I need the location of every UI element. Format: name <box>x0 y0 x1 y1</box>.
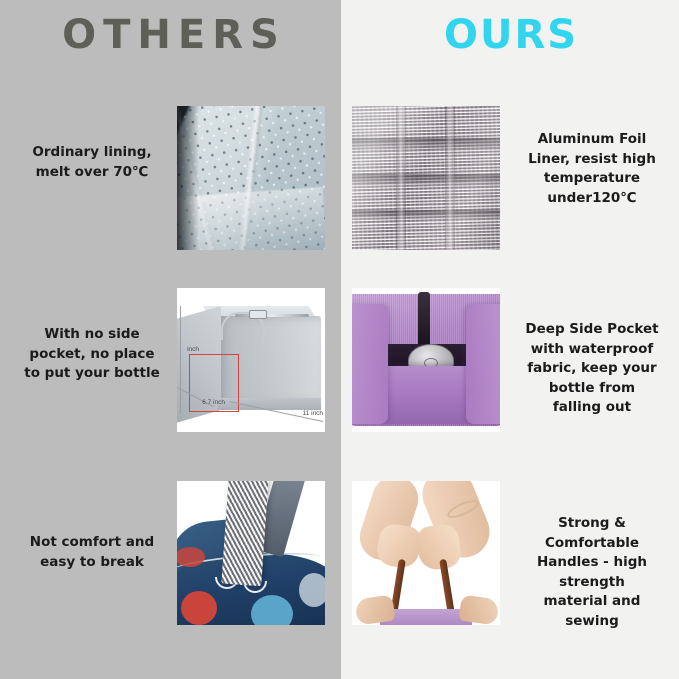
bag-pattern-blob <box>299 573 325 607</box>
dimension-label-width: 11 inch <box>303 410 323 417</box>
bag-pattern-blob <box>251 595 293 625</box>
lining-fold <box>177 187 325 250</box>
pocket-flap-right <box>466 304 500 424</box>
bag-diagram-zipper-tab <box>249 310 267 319</box>
comparison-infographic: OTHERS OURS Ordinary lining,melt over 70… <box>0 0 679 679</box>
deep-side-pocket <box>378 366 480 424</box>
ours-row-2-caption: Deep Side Pocketwith waterprooffabric, k… <box>512 320 672 418</box>
supporting-hand-left <box>354 594 395 625</box>
others-row-3-caption: Not comfort andeasy to break <box>8 533 176 572</box>
woven-strap <box>221 481 268 586</box>
dimension-line-height <box>180 306 181 414</box>
ours-row-1-caption: Aluminum FoilLiner, resist hightemperatu… <box>512 130 672 208</box>
bag-diagram-zipper <box>235 314 309 317</box>
ours-row-2-image <box>352 288 500 432</box>
others-row-1-image <box>177 106 325 250</box>
pocket-flap-left <box>352 304 388 424</box>
others-row-1-caption: Ordinary lining,melt over 70℃ <box>8 143 176 182</box>
others-row-3-image <box>177 481 325 625</box>
foil-gloss <box>352 106 500 250</box>
ours-row-1-image <box>352 106 500 250</box>
supporting-hand-right <box>458 594 499 625</box>
dimension-label-depth: 6.7 inch <box>202 399 225 406</box>
others-row-2-image: 11 inch 6.7 inch inch <box>177 288 325 432</box>
ours-row-3-image <box>352 481 500 625</box>
ours-heading: OURS <box>341 12 679 58</box>
bag-pattern-blob <box>181 591 217 625</box>
others-row-2-caption: With no sidepocket, no placeto put your … <box>8 325 176 384</box>
ours-row-3-caption: Strong &ComfortableHandles - highstrengt… <box>512 514 672 631</box>
dimension-label-height: inch <box>187 346 199 353</box>
lining-shadow <box>177 106 199 250</box>
others-heading: OTHERS <box>0 12 341 58</box>
bag-zipper-strip <box>418 292 430 352</box>
